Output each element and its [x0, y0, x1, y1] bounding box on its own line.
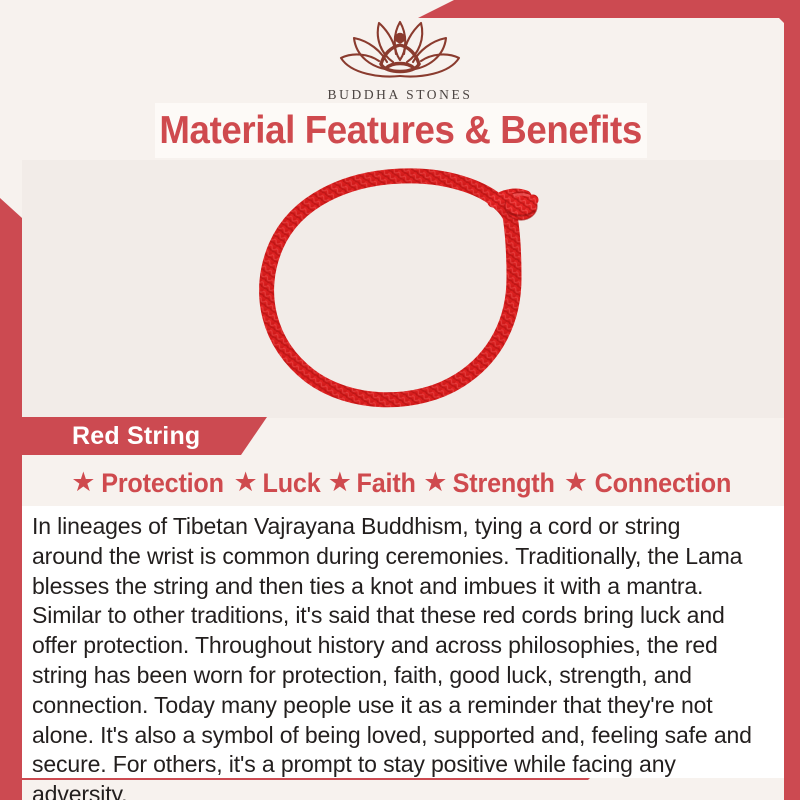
page-title-band: Material Features & Benefits: [155, 103, 647, 158]
brand-wordmark: BUDDHA STONES: [0, 87, 800, 103]
star-icon: ★: [233, 469, 257, 496]
decorative-left-border: [0, 198, 22, 800]
description-card: In lineages of Tibetan Vajrayana Buddhis…: [22, 506, 784, 778]
benefit-item-luck: ★ Luck: [233, 468, 321, 499]
star-icon: ★: [328, 469, 352, 496]
benefit-label: Strength: [453, 468, 555, 499]
benefit-label: Protection: [102, 468, 225, 499]
benefit-item-connection: ★ Connection: [564, 468, 735, 499]
star-icon: ★: [423, 469, 447, 496]
benefit-item-protection: ★ Protection: [71, 468, 227, 499]
page-title: Material Features & Benefits: [160, 109, 643, 153]
brand-logo: BUDDHA STONES: [0, 16, 800, 103]
red-string-bracelet-icon: [238, 168, 568, 418]
benefit-item-strength: ★ Strength: [423, 468, 558, 499]
description-paragraph: In lineages of Tibetan Vajrayana Buddhis…: [32, 512, 755, 800]
material-ribbon: Red String: [22, 417, 267, 455]
benefit-item-faith: ★ Faith: [328, 468, 418, 499]
decorative-right-border: [784, 0, 800, 800]
benefits-row: ★ Protection ★ Luck ★ Faith ★ Strength ★…: [22, 461, 784, 505]
star-icon: ★: [71, 469, 95, 496]
benefit-label: Faith: [357, 468, 416, 499]
benefit-label: Connection: [595, 468, 732, 499]
product-image: [22, 160, 784, 418]
star-icon: ★: [564, 469, 588, 496]
benefit-label: Luck: [262, 468, 320, 499]
lotus-meditation-icon: [325, 16, 475, 84]
infographic-canvas: BUDDHA STONES Material Features & Benefi…: [0, 0, 800, 800]
material-name: Red String: [72, 422, 200, 451]
